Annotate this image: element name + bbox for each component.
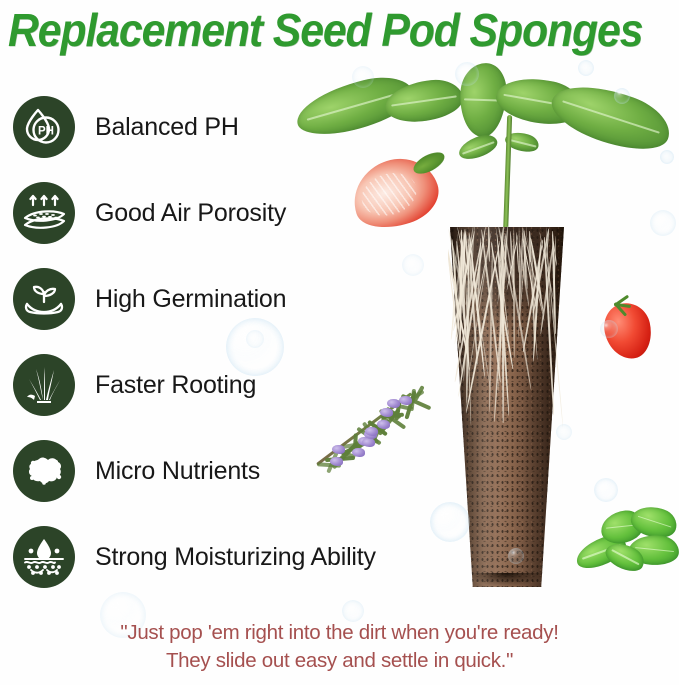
feature-row-strong-moisturizing-ability: Strong Moisturizing Ability xyxy=(0,522,400,608)
tomato-stem xyxy=(600,295,640,313)
basil-leaf-small-left xyxy=(456,131,500,162)
feature-label: Faster Rooting xyxy=(95,354,256,416)
feature-label: Strong Moisturizing Ability xyxy=(95,526,376,588)
feature-row-balanced-ph: PH Balanced PH xyxy=(0,92,400,178)
svg-text:PH: PH xyxy=(38,126,54,138)
mint-leaves xyxy=(575,505,679,581)
basil-stem xyxy=(503,115,512,240)
nutrient-blob-icon xyxy=(13,440,75,502)
pod-bottom-shadow xyxy=(470,573,544,587)
feature-list: PH Balanced PH Good Air Porosity xyxy=(0,92,400,608)
feature-label: Balanced PH xyxy=(95,96,239,158)
feature-label: High Germination xyxy=(95,268,286,330)
seedling-hand-icon xyxy=(13,268,75,330)
feature-label: Good Air Porosity xyxy=(95,182,286,244)
water-droplet-absorb-icon xyxy=(13,526,75,588)
feature-row-high-germination: High Germination xyxy=(0,264,400,350)
ph-balance-icon: PH xyxy=(13,96,75,158)
feature-row-faster-rooting: Faster Rooting xyxy=(0,350,400,436)
root-system xyxy=(448,225,568,455)
feature-label: Micro Nutrients xyxy=(95,440,260,502)
product-caption: "Just pop 'em right into the dirt when y… xyxy=(0,619,679,675)
caption-line-2: They slide out easy and settle in quick.… xyxy=(0,647,679,675)
feature-row-micro-nutrients: Micro Nutrients xyxy=(0,436,400,522)
feature-row-good-air-porosity: Good Air Porosity xyxy=(0,178,400,264)
page-title: Replacement Seed Pod Sponges xyxy=(8,4,622,56)
air-porosity-icon xyxy=(13,182,75,244)
caption-line-1: "Just pop 'em right into the dirt when y… xyxy=(0,619,679,647)
rosemary-flower xyxy=(399,396,412,405)
grass-roots-icon xyxy=(13,354,75,416)
